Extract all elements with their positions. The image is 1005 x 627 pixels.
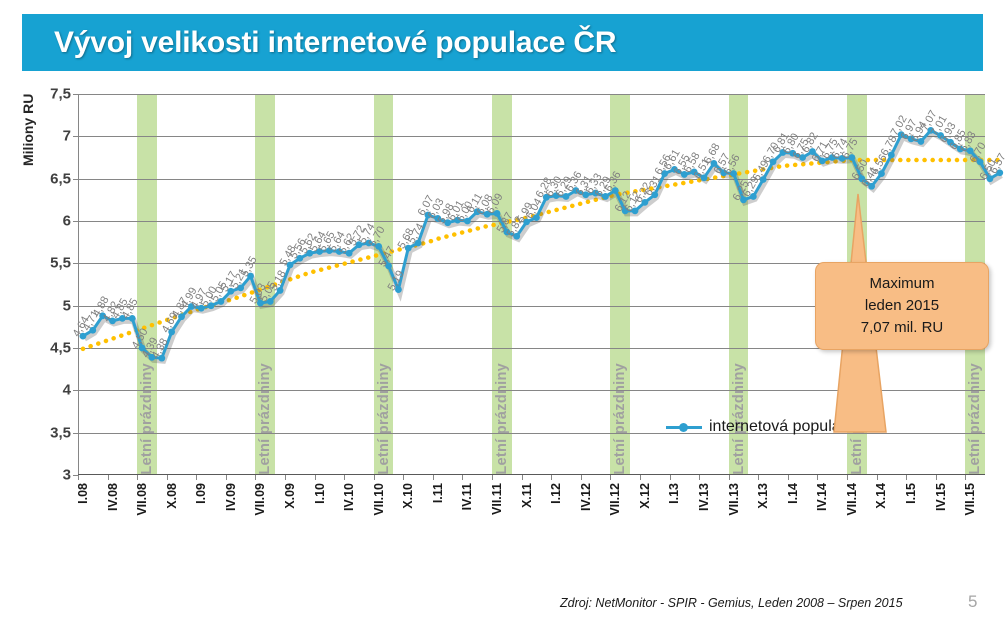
x-axis-tick [226,475,227,480]
series-data-point [543,194,550,201]
x-axis-tick [403,475,404,480]
series-data-point [701,174,708,181]
series-data-point [641,199,648,206]
series-data-point [99,312,106,319]
y-axis-tick-label: 4,5 [50,340,71,357]
series-data-point [425,212,432,219]
source-note: Zdroj: NetMonitor - SPIR - Gemius, Leden… [560,596,903,610]
x-axis-tick-label: X.14 [874,483,888,509]
y-axis-tick-label: 5,5 [50,255,71,272]
x-axis-tick-label: IV.09 [224,483,238,511]
x-axis-tick [315,475,316,480]
x-axis-tick-label: IV.11 [460,483,474,510]
series-data-point [247,273,254,280]
x-axis-tick-label: VII.10 [372,483,386,516]
x-axis-tick [847,475,848,480]
series-data-point [523,218,530,225]
series-data-point [937,132,944,139]
x-axis-tick-label: IV.12 [579,483,593,511]
x-axis-tick [936,475,937,480]
series-data-point [612,187,619,194]
series-data-point [316,248,323,255]
series-data-point [395,286,402,293]
series-data-point [80,333,87,340]
series-data-point [484,211,491,218]
x-axis-tick-label: VII.15 [963,483,977,516]
x-axis-tick [167,475,168,480]
x-axis-tick-label: I.11 [431,483,445,503]
x-axis-tick [108,475,109,480]
series-data-point [149,354,156,361]
series-data-point [257,300,264,307]
x-axis-tick [344,475,345,480]
series-data-point [336,248,343,255]
x-axis-tick [729,475,730,480]
x-axis-tick-label: X.11 [520,483,534,508]
series-data-point [592,190,599,197]
x-axis-tick [817,475,818,480]
series-data-point [356,241,363,248]
series-data-point [454,217,461,224]
series-data-point [947,139,954,146]
y-axis-tick-label: 4 [63,382,71,399]
series-data-point [632,207,639,214]
slide-title-bar: Vývoj velikosti internetové populace ČR [22,14,983,71]
y-axis-line [78,94,79,475]
x-axis-tick-label: VII.12 [608,483,622,516]
series-data-point [553,192,560,199]
series-data-point [888,152,895,159]
y-axis-tick-label: 3 [63,467,71,484]
series-data-point [198,305,205,312]
series-data-point [296,255,303,262]
series-data-point [602,193,609,200]
x-axis-tick-label: I.12 [549,483,563,504]
x-axis-tick-label: I.10 [313,483,327,504]
y-axis-title: Miliony RU [20,94,36,166]
x-axis-tick [877,475,878,480]
series-data-point [671,166,678,173]
series-data-point [375,243,382,250]
series-data-point [119,315,126,322]
series-data-point [533,214,540,221]
x-axis-tick-label: VII.13 [727,483,741,516]
series-data-point [799,154,806,161]
series-data-point [227,288,234,295]
y-axis-tick-label: 7,5 [50,86,71,103]
x-axis-line [78,474,985,475]
series-data-point [829,154,836,161]
series-data-point [306,250,313,257]
series-data-point [168,329,175,336]
x-axis-tick [78,475,79,480]
series-data-point [346,250,353,257]
series-data-point [89,327,96,334]
x-axis-tick [433,475,434,480]
page-number: 5 [968,592,977,612]
callout-line-1: Maximum [822,273,982,295]
x-axis-tick-label: IV.13 [697,483,711,511]
x-axis-tick [492,475,493,480]
series-data-point [444,219,451,226]
x-axis-tick [196,475,197,480]
series-data-point [651,191,658,198]
series-data-point [849,154,856,161]
page-title: Vývoj velikosti internetové populace ČR [54,26,616,60]
x-axis-tick-label: I.09 [194,483,208,504]
x-axis-tick [581,475,582,480]
series-data-point [770,158,777,165]
y-axis-tick-label: 3,5 [50,424,71,441]
x-axis-tick [670,475,671,480]
x-axis-tick-label: IV.15 [934,483,948,511]
series-data-point [464,218,471,225]
series-data-point [178,313,185,320]
series-data-point [710,160,717,167]
series-data-point [365,240,372,247]
x-axis-tick [522,475,523,480]
x-axis-tick-label: X.08 [165,483,179,509]
x-axis-tick [551,475,552,480]
x-axis-tick-label: I.08 [76,483,90,504]
series-data-point [977,158,984,165]
x-axis-tick [758,475,759,480]
series-data-point [898,131,905,138]
series-data-point [720,169,727,176]
series-data-point [789,150,796,157]
x-axis-tick-label: I.15 [904,483,918,504]
series-data-point [967,147,974,154]
series-data-point [503,229,510,236]
series-data-point [750,193,757,200]
series-data-point [918,138,925,145]
x-axis-tick-label: VII.09 [253,483,267,516]
series-data-point [730,170,737,177]
series-data-point [188,303,195,310]
series-data-point [109,318,116,325]
x-axis-tick-label: X.12 [638,483,652,509]
x-axis-tick-label: IV.14 [815,483,829,511]
series-data-point [622,207,629,214]
series-data-point [326,247,333,254]
x-axis-tick [965,475,966,480]
x-axis-tick-label: X.13 [756,483,770,509]
x-axis-tick-label: X.10 [401,483,415,509]
legend-series-marker-icon [666,421,702,433]
x-axis-tick [374,475,375,480]
series-data-point [474,208,481,215]
series-data-point [237,284,244,291]
series-data-point [129,315,136,322]
maximum-callout[interactable]: Maximum leden 2015 7,07 mil. RU [815,262,989,350]
series-data-point [908,135,915,142]
x-axis-tick [255,475,256,480]
x-axis-tick-label: I.14 [786,483,800,504]
y-axis-tick-label: 5 [63,297,71,314]
series-data-point [927,127,934,134]
series-data-point [819,157,826,164]
y-axis-tick-label: 6 [63,213,71,230]
x-axis-tick-label: X.09 [283,483,297,509]
series-data-point [957,146,964,153]
series-data-point [158,355,165,362]
callout-line-2: leden 2015 [822,295,982,317]
series-data-point [494,210,501,217]
series-data-point [513,233,520,240]
series-data-point [691,168,698,175]
series-data-point [779,149,786,156]
series-data-point [208,302,215,309]
x-axis-tick-label: VII.14 [845,483,859,516]
series-data-point [385,262,392,269]
x-axis-tick [640,475,641,480]
x-axis-tick [906,475,907,480]
series-data-point [681,171,688,178]
x-axis-tick [137,475,138,480]
series-data-point [415,240,422,247]
series-data-point [563,193,570,200]
x-axis-tick-label: IV.10 [342,483,356,511]
series-data-point [139,345,146,352]
x-axis-tick [610,475,611,480]
series-data-point [661,170,668,177]
x-axis-tick [462,475,463,480]
series-data-point [839,155,846,162]
series-data-point [405,245,412,252]
x-axis-tick-label: IV.08 [106,483,120,511]
y-axis-tick-label: 7 [63,128,71,145]
x-axis-tick-label: I.13 [667,483,681,504]
series-data-point [267,298,274,305]
y-axis-tick-label: 6,5 [50,170,71,187]
series-data-point [582,191,589,198]
series-data-point [434,215,441,222]
x-axis-tick [788,475,789,480]
series-data-point [287,262,294,269]
series-data-point [809,148,816,155]
x-axis-tick [699,475,700,480]
callout-line-3: 7,07 mil. RU [822,317,982,339]
x-axis-tick-label: VII.11 [490,483,504,515]
series-data-point [740,196,747,203]
series-data-point [572,187,579,194]
x-axis-tick-label: VII.08 [135,483,149,516]
series-data-point [218,298,225,305]
x-axis-tick [285,475,286,480]
series-data-point [277,287,284,294]
